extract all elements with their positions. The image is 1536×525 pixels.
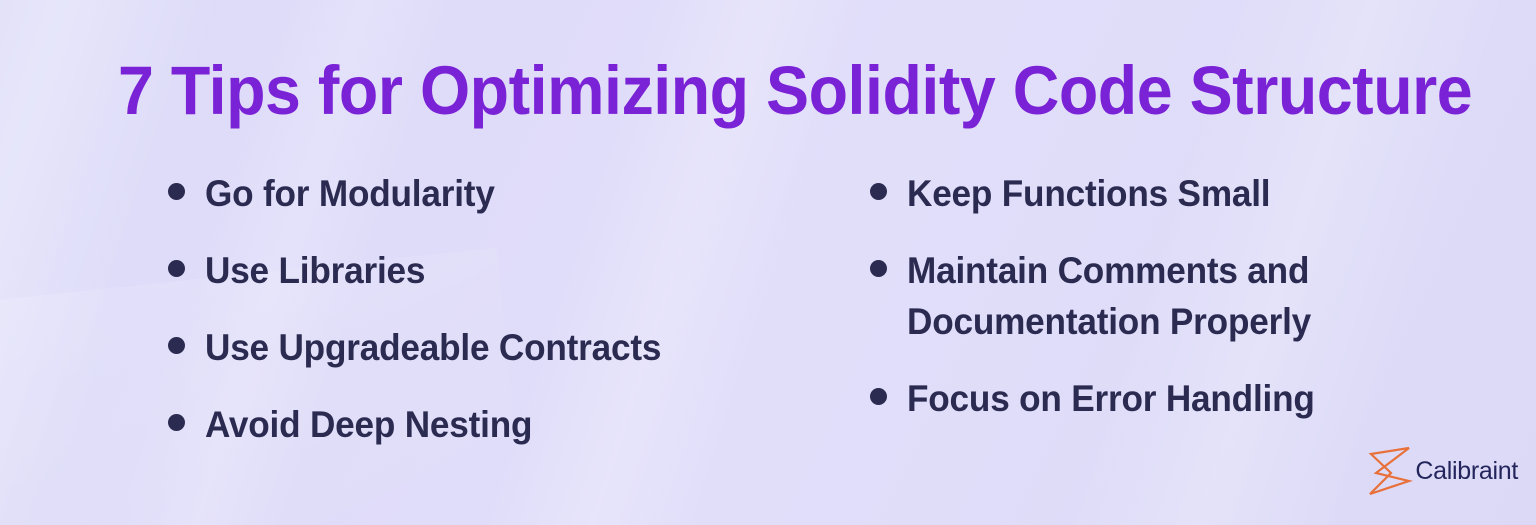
brand-logo-text: Calibraint — [1415, 457, 1518, 486]
bullet-dot-icon — [870, 183, 887, 200]
bullet-dot-icon — [168, 260, 185, 277]
list-item-label: Maintain Comments and Documentation Prop… — [907, 245, 1480, 347]
bullet-dot-icon — [168, 337, 185, 354]
calibraint-z-mark-icon — [1367, 445, 1413, 497]
bullet-dot-icon — [870, 388, 887, 405]
brand-logo: Calibraint — [1367, 445, 1518, 497]
list-item: Avoid Deep Nesting — [168, 399, 828, 450]
infographic-canvas: 7 Tips for Optimizing Solidity Code Stru… — [0, 0, 1536, 525]
list-item-label: Go for Modularity — [205, 168, 495, 219]
bullet-dot-icon — [870, 260, 887, 277]
page-title: 7 Tips for Optimizing Solidity Code Stru… — [118, 56, 1352, 125]
tips-column-right: Keep Functions Small Maintain Comments a… — [870, 168, 1510, 450]
list-item-label: Use Libraries — [205, 245, 425, 296]
list-item: Go for Modularity — [168, 168, 828, 219]
list-item-label: Keep Functions Small — [907, 168, 1270, 219]
list-item-label: Avoid Deep Nesting — [205, 399, 532, 450]
list-item-label: Focus on Error Handling — [907, 373, 1315, 424]
tips-column-left: Go for Modularity Use Libraries Use Upgr… — [168, 168, 828, 476]
list-item-label: Use Upgradeable Contracts — [205, 322, 661, 373]
list-item: Keep Functions Small — [870, 168, 1510, 219]
list-item: Maintain Comments and Documentation Prop… — [870, 245, 1510, 347]
list-item: Focus on Error Handling — [870, 373, 1510, 424]
list-item: Use Libraries — [168, 245, 828, 296]
bullet-dot-icon — [168, 183, 185, 200]
list-item: Use Upgradeable Contracts — [168, 322, 828, 373]
bullet-dot-icon — [168, 414, 185, 431]
